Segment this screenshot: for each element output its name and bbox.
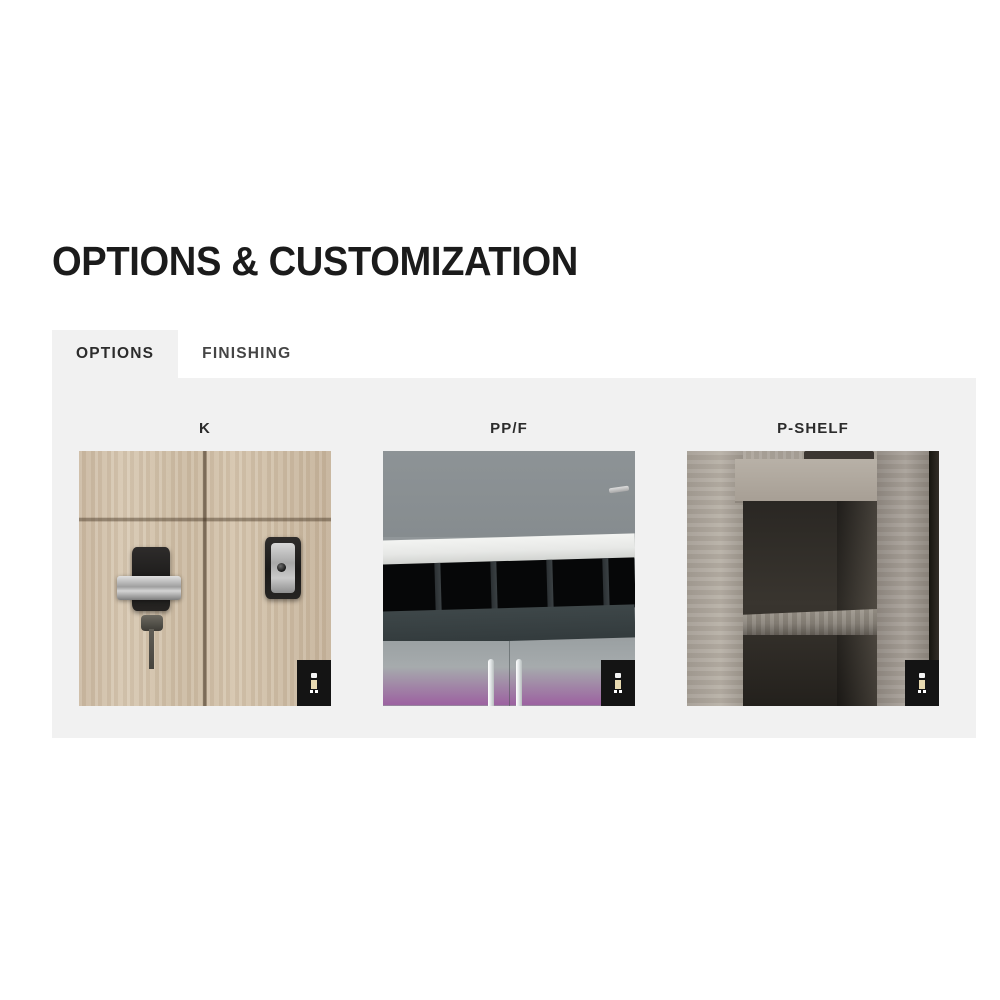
slot-divider	[546, 560, 553, 610]
info-badge-ppf[interactable]	[601, 660, 635, 706]
info-icon	[611, 672, 625, 694]
options-grid: K	[79, 420, 939, 706]
option-label-p-shelf: P-SHELF	[687, 420, 939, 438]
option-thumbnail-k[interactable]	[79, 451, 331, 706]
door-handle-right-icon	[516, 659, 522, 706]
door-handle-left-icon	[488, 659, 494, 706]
lock-cam-icon	[117, 576, 181, 600]
page-title: OPTIONS & CUSTOMIZATION	[52, 236, 578, 286]
option-label-k: K	[79, 420, 331, 438]
tab-finishing-label: FINISHING	[202, 345, 291, 363]
cabinet-trim-band	[383, 604, 635, 644]
keyhole-icon	[277, 563, 286, 572]
option-card-k: K	[79, 420, 331, 706]
pigeonhole-cabinet-photo	[383, 451, 635, 706]
info-icon	[915, 672, 929, 694]
option-card-p-shelf: P-SHELF	[687, 420, 939, 706]
option-card-ppf: PP/F	[383, 420, 635, 706]
tab-finishing[interactable]: FINISHING	[178, 330, 315, 378]
tab-list: OPTIONS FINISHING	[52, 330, 315, 378]
tab-options-label: OPTIONS	[76, 345, 154, 363]
cabinet-doors	[383, 641, 635, 706]
open-shelf-photo	[687, 451, 939, 706]
key-blade-icon	[149, 629, 154, 669]
shelf-inner-wall	[837, 501, 877, 706]
cabinet-lock-photo	[79, 451, 331, 706]
cabinet-backpanel	[383, 451, 635, 537]
info-badge-k[interactable]	[297, 660, 331, 706]
slot-divider	[602, 558, 609, 608]
option-label-ppf: PP/F	[383, 420, 635, 438]
slot-divider	[490, 561, 497, 611]
shelf-board	[743, 609, 877, 635]
slot-divider	[434, 563, 441, 613]
options-tab-panel: K	[52, 378, 976, 738]
shelf-cavity	[743, 501, 877, 706]
info-icon	[307, 672, 321, 694]
tab-options[interactable]: OPTIONS	[52, 330, 178, 378]
option-thumbnail-p-shelf[interactable]	[687, 451, 939, 706]
option-thumbnail-ppf[interactable]	[383, 451, 635, 706]
info-badge-p-shelf[interactable]	[905, 660, 939, 706]
